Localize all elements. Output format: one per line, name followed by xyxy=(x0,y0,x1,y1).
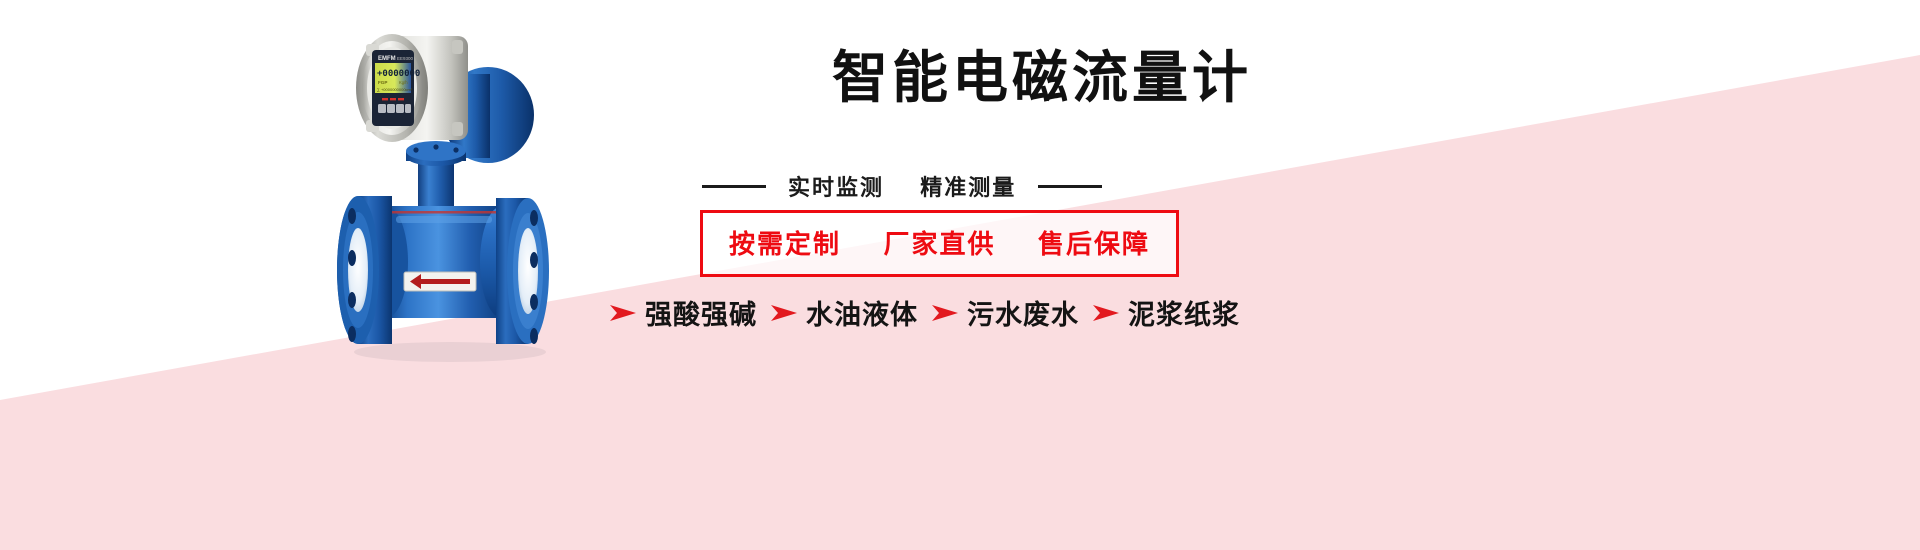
meter-neck xyxy=(406,141,466,206)
bullet-item: 强酸强碱 xyxy=(610,293,757,332)
subtitle-right: 精准测量 xyxy=(920,175,1016,200)
flowmeter-product-image: EMFM EE9300 +0000000 FGP Kg/h ∑ +0000000… xyxy=(300,0,630,400)
arrow-right-icon xyxy=(771,303,797,323)
rule-right-icon xyxy=(1038,185,1102,188)
right-flange xyxy=(496,198,549,344)
lcd-display-panel: EMFM EE9300 +0000000 FGP Kg/h ∑ +0000000… xyxy=(372,50,420,126)
bullet-label: 水油液体 xyxy=(806,293,918,332)
lcd-total-line: ∑ +0000000000cm³ xyxy=(377,87,413,92)
lcd-label-left: FGP xyxy=(378,80,387,85)
subtitle-text: 实时监测 精准测量 xyxy=(788,170,1016,202)
product-banner: EMFM EE9300 +0000000 FGP Kg/h ∑ +0000000… xyxy=(0,0,1920,550)
bullet-label: 污水废水 xyxy=(967,293,1079,332)
lcd-label-right: Kg/h xyxy=(399,80,408,85)
bullet-label: 强酸强碱 xyxy=(645,293,757,332)
bullet-label: 泥浆纸浆 xyxy=(1128,293,1240,332)
lcd-model: EE9300 xyxy=(397,56,414,61)
page-title: 智能电磁流量计 xyxy=(832,48,1252,110)
bullet-item: 污水废水 xyxy=(932,293,1079,332)
bullet-item: 水油液体 xyxy=(771,293,918,332)
guarantee-badge-text: 按需定制 厂家直供 售后保障 xyxy=(729,224,1150,261)
subtitle-left: 实时监测 xyxy=(788,175,884,200)
subtitle-row: 实时监测 精准测量 xyxy=(702,170,1402,202)
guarantee-badge-box: 按需定制 厂家直供 售后保障 xyxy=(700,210,1179,277)
flow-direction-arrow-icon xyxy=(404,272,476,291)
bullet-item: 泥浆纸浆 xyxy=(1093,293,1240,332)
badge-item-1: 厂家直供 xyxy=(883,229,995,259)
badge-item-0: 按需定制 xyxy=(729,229,841,259)
arrow-right-icon xyxy=(932,303,958,323)
lcd-value: +0000000 xyxy=(377,69,420,79)
left-flange xyxy=(337,196,392,344)
keypad[interactable] xyxy=(378,104,411,113)
banner-text-column: 智能电磁流量计 实时监测 精准测量 按需定制 厂家直供 售后保障 xyxy=(660,0,1420,550)
arrow-right-icon xyxy=(610,303,636,323)
rule-left-icon xyxy=(702,185,766,188)
flowmeter-illustration: EMFM EE9300 +0000000 FGP Kg/h ∑ +0000000… xyxy=(300,0,630,400)
badge-item-2: 售后保障 xyxy=(1038,229,1150,259)
arrow-right-icon xyxy=(1093,303,1119,323)
lcd-brand: EMFM xyxy=(378,56,396,62)
application-bullets: 强酸强碱 水油液体 污水废水 泥浆纸浆 xyxy=(610,293,1240,332)
